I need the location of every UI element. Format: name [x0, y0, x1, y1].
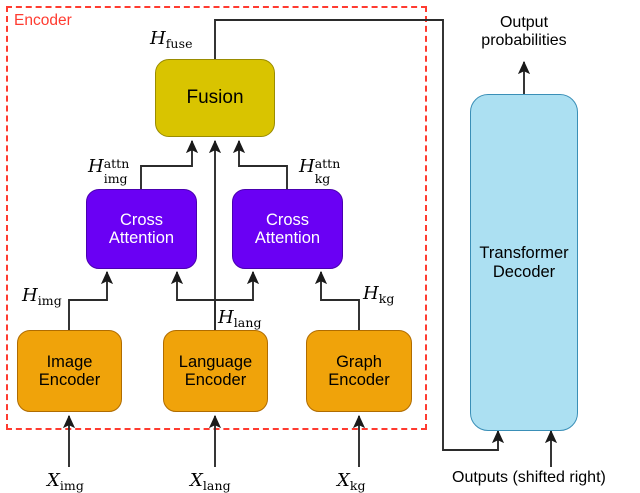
math-h-kg-var: H — [363, 283, 379, 304]
arrow-hlang-to-cross-right — [215, 272, 253, 300]
math-h-img-attn-sub: img — [104, 173, 128, 186]
math-h-img-sub: img — [38, 293, 62, 308]
arrow-hkg-to-cross-right — [321, 272, 359, 330]
math-x-kg-var: X — [337, 470, 350, 491]
arrow-hlang-to-cross-left — [177, 272, 215, 330]
math-label-h-lang: Hlang — [218, 309, 262, 330]
math-h-img-attn-sup: attn — [104, 158, 130, 171]
math-label-h-img-attn: Hattnimg — [88, 158, 105, 176]
node-cross-attention-left[interactable]: Cross Attention — [86, 189, 197, 269]
node-graph-encoder[interactable]: Graph Encoder — [306, 330, 412, 412]
math-h-lang-sub: lang — [234, 315, 262, 330]
node-transformer-decoder-label: Transformer Decoder — [479, 244, 568, 281]
math-h-fuse-sub: fuse — [166, 36, 193, 51]
label-decoder-inputs: Outputs (shifted right) — [452, 469, 638, 487]
math-x-kg-sub: kg — [350, 478, 366, 493]
arrow-himg-to-cross-left — [69, 272, 107, 330]
node-fusion[interactable]: Fusion — [155, 59, 275, 137]
node-language-encoder-label: Language Encoder — [179, 353, 252, 390]
math-h-img-attn-var: H — [88, 156, 104, 177]
arrow-hkgattn-to-fusion — [239, 141, 287, 189]
node-cross-attention-right-label: Cross Attention — [255, 211, 320, 248]
math-label-h-kg-attn: Hattnkg — [299, 158, 316, 176]
math-h-fuse-var: H — [150, 28, 166, 49]
math-label-h-fuse: Hfuse — [150, 30, 193, 51]
node-fusion-label: Fusion — [186, 87, 243, 108]
arrow-himgattn-to-fusion — [141, 141, 192, 189]
math-x-img-sub: img — [60, 478, 84, 493]
node-cross-attention-left-label: Cross Attention — [109, 211, 174, 248]
math-h-kg-sub: kg — [379, 291, 395, 306]
math-h-lang-var: H — [218, 307, 234, 328]
node-image-encoder-label: Image Encoder — [39, 353, 100, 390]
math-h-img-var: H — [22, 285, 38, 306]
node-cross-attention-right[interactable]: Cross Attention — [232, 189, 343, 269]
math-h-kg-attn-var: H — [299, 156, 315, 177]
diagram-canvas: Encoder — [0, 0, 640, 493]
math-x-img-var: X — [47, 470, 60, 491]
math-x-lang-var: X — [190, 470, 203, 491]
math-label-h-kg: Hkg — [363, 285, 394, 306]
node-graph-encoder-label: Graph Encoder — [328, 353, 389, 390]
label-output-probabilities: Output probabilities — [462, 14, 586, 51]
math-label-x-kg: Xkg — [337, 472, 366, 493]
math-x-lang-sub: lang — [203, 478, 231, 493]
math-h-kg-attn-sup: attn — [315, 158, 341, 171]
node-image-encoder[interactable]: Image Encoder — [17, 330, 122, 412]
math-h-kg-attn-sub: kg — [315, 173, 331, 186]
math-label-x-lang: Xlang — [190, 472, 231, 493]
math-label-h-img: Himg — [22, 287, 62, 308]
math-label-x-img: Ximg — [47, 472, 84, 493]
node-language-encoder[interactable]: Language Encoder — [163, 330, 268, 412]
node-transformer-decoder[interactable]: Transformer Decoder — [470, 94, 578, 431]
